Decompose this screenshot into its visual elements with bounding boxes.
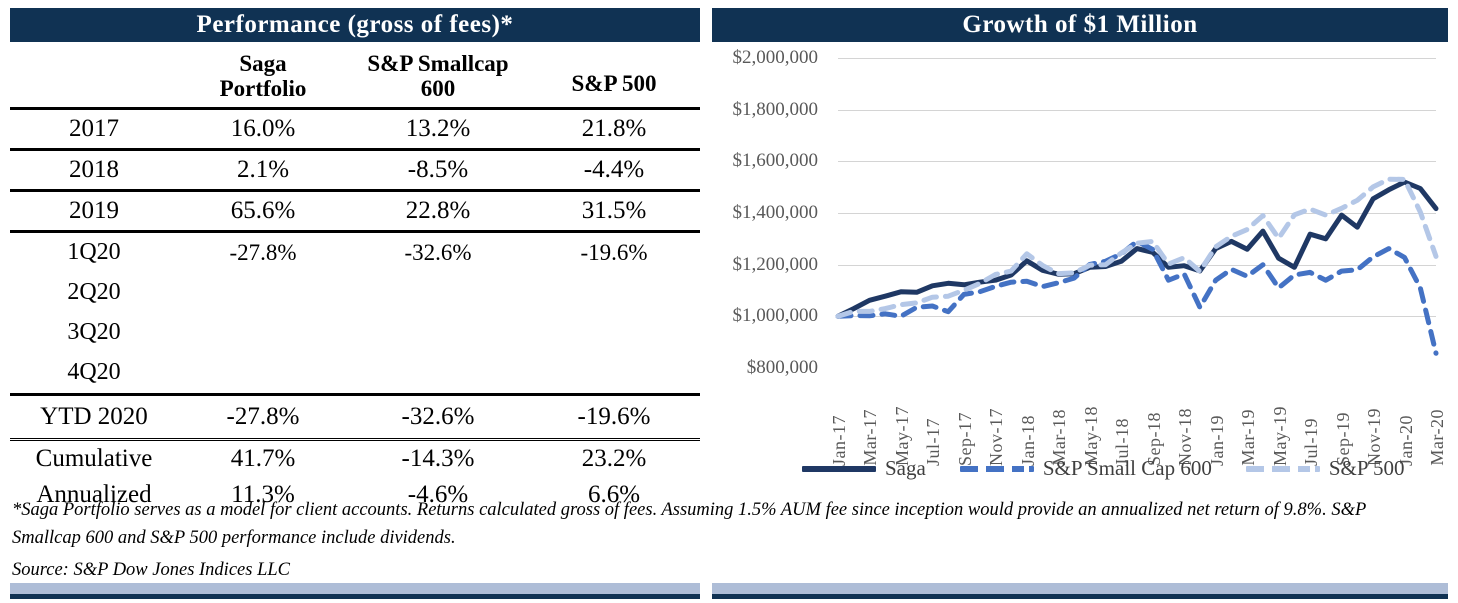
legend-item-saga[interactable]: Saga <box>802 456 926 481</box>
table-row: 4Q20 <box>10 353 700 395</box>
row-label: 4Q20 <box>10 353 178 395</box>
cell-sp500: -19.6% <box>528 394 700 439</box>
cell-smallcap <box>348 273 528 313</box>
cell-smallcap: 22.8% <box>348 190 528 231</box>
row-label: 2018 <box>10 149 178 190</box>
cell-smallcap: -32.6% <box>348 394 528 439</box>
performance-table-head: Saga Portfolio S&P Smallcap 600 S&P 500 <box>10 48 700 108</box>
table-row: 1Q20 -27.8% -32.6% -19.6% <box>10 231 700 273</box>
cell-saga: 41.7% <box>178 439 348 477</box>
cell-saga: -27.8% <box>178 231 348 273</box>
y-axis-tick-label: $1,400,000 <box>658 202 818 224</box>
cell-smallcap: -8.5% <box>348 149 528 190</box>
cell-sp500: 23.2% <box>528 439 700 477</box>
footer-bar-right <box>712 583 1448 599</box>
legend-swatch-saga <box>802 466 876 472</box>
performance-panel-title: Performance (gross of fees)* <box>197 11 514 39</box>
performance-table-body: 2017 16.0% 13.2% 21.8% 2018 2.1% -8.5% -… <box>10 108 700 513</box>
footer-bar-left <box>10 583 700 599</box>
legend-label-s-p-small-cap-600: S&P Small Cap 600 <box>1043 456 1212 481</box>
source-line: Source: S&P Dow Jones Indices LLC <box>12 560 290 581</box>
col-header-smallcap: S&P Smallcap 600 <box>348 48 528 108</box>
cell-smallcap <box>348 313 528 353</box>
cell-saga: 16.0% <box>178 108 348 149</box>
legend-swatch-s-p-500 <box>1246 466 1320 472</box>
table-row-ytd: YTD 2020 -27.8% -32.6% -19.6% <box>10 394 700 439</box>
chart-plot-area: $800,000$1,000,000$1,200,000$1,400,000$1… <box>838 58 1436 368</box>
disclosure-footnote: *Saga Portfolio serves as a model for cl… <box>12 497 1412 553</box>
row-label: 1Q20 <box>10 231 178 273</box>
performance-panel-header: Performance (gross of fees)* <box>10 8 700 42</box>
chart-x-axis: Jan-17Mar-17May-17Jul-17Sep-17Nov-17Jan-… <box>838 370 1436 466</box>
legend-label-s-p-500: S&P 500 <box>1329 456 1405 481</box>
table-row: 2019 65.6% 22.8% 31.5% <box>10 190 700 231</box>
y-axis-tick-label: $1,800,000 <box>658 99 818 121</box>
row-label: Cumulative <box>10 439 178 477</box>
cell-saga <box>178 313 348 353</box>
footer-bar-right-light <box>712 583 1448 594</box>
cell-saga: -27.8% <box>178 394 348 439</box>
chart-panel-title: Growth of $1 Million <box>962 11 1197 39</box>
row-label: 2017 <box>10 108 178 149</box>
cell-saga: 2.1% <box>178 149 348 190</box>
row-label: YTD 2020 <box>10 394 178 439</box>
footer-bar-left-light <box>10 583 700 594</box>
chart-legend: SagaS&P Small Cap 600S&P 500 <box>802 456 1448 481</box>
table-row: 3Q20 <box>10 313 700 353</box>
footer-bar-right-dark <box>712 594 1448 599</box>
row-label: 3Q20 <box>10 313 178 353</box>
table-row: 2018 2.1% -8.5% -4.4% <box>10 149 700 190</box>
y-axis-tick-label: $1,000,000 <box>658 305 818 327</box>
performance-table: Saga Portfolio S&P Smallcap 600 S&P 500 … <box>10 48 700 513</box>
legend-label-saga: Saga <box>885 456 926 481</box>
row-label: 2Q20 <box>10 273 178 313</box>
y-axis-tick-label: $2,000,000 <box>658 47 818 69</box>
cell-saga: 65.6% <box>178 190 348 231</box>
cell-saga <box>178 273 348 313</box>
y-axis-tick-label: $800,000 <box>658 357 818 379</box>
legend-swatch-s-p-small-cap-600 <box>960 466 1034 472</box>
col-header-period <box>10 48 178 108</box>
table-row-cumulative: Cumulative 41.7% -14.3% 23.2% <box>10 439 700 477</box>
legend-item-s-p-small-cap-600[interactable]: S&P Small Cap 600 <box>960 456 1212 481</box>
cell-smallcap <box>348 353 528 395</box>
chart-series-lines <box>838 58 1436 368</box>
cell-smallcap: -14.3% <box>348 439 528 477</box>
legend-item-s-p-500[interactable]: S&P 500 <box>1246 456 1405 481</box>
footer-bar-left-dark <box>10 594 700 599</box>
table-row: 2017 16.0% 13.2% 21.8% <box>10 108 700 149</box>
col-header-saga: Saga Portfolio <box>178 48 348 108</box>
cell-smallcap: 13.2% <box>348 108 528 149</box>
slide-root: Performance (gross of fees)* Growth of $… <box>0 0 1458 603</box>
row-label: 2019 <box>10 190 178 231</box>
cell-smallcap: -32.6% <box>348 231 528 273</box>
chart-panel-header: Growth of $1 Million <box>712 8 1448 42</box>
performance-table-panel: Saga Portfolio S&P Smallcap 600 S&P 500 … <box>10 48 700 513</box>
cell-saga <box>178 353 348 395</box>
series-line-saga <box>838 182 1436 316</box>
y-axis-tick-label: $1,600,000 <box>658 150 818 172</box>
table-row: 2Q20 <box>10 273 700 313</box>
table-header-row: Saga Portfolio S&P Smallcap 600 S&P 500 <box>10 48 700 108</box>
y-axis-tick-label: $1,200,000 <box>658 254 818 276</box>
growth-chart-panel: $800,000$1,000,000$1,200,000$1,400,000$1… <box>712 44 1448 484</box>
